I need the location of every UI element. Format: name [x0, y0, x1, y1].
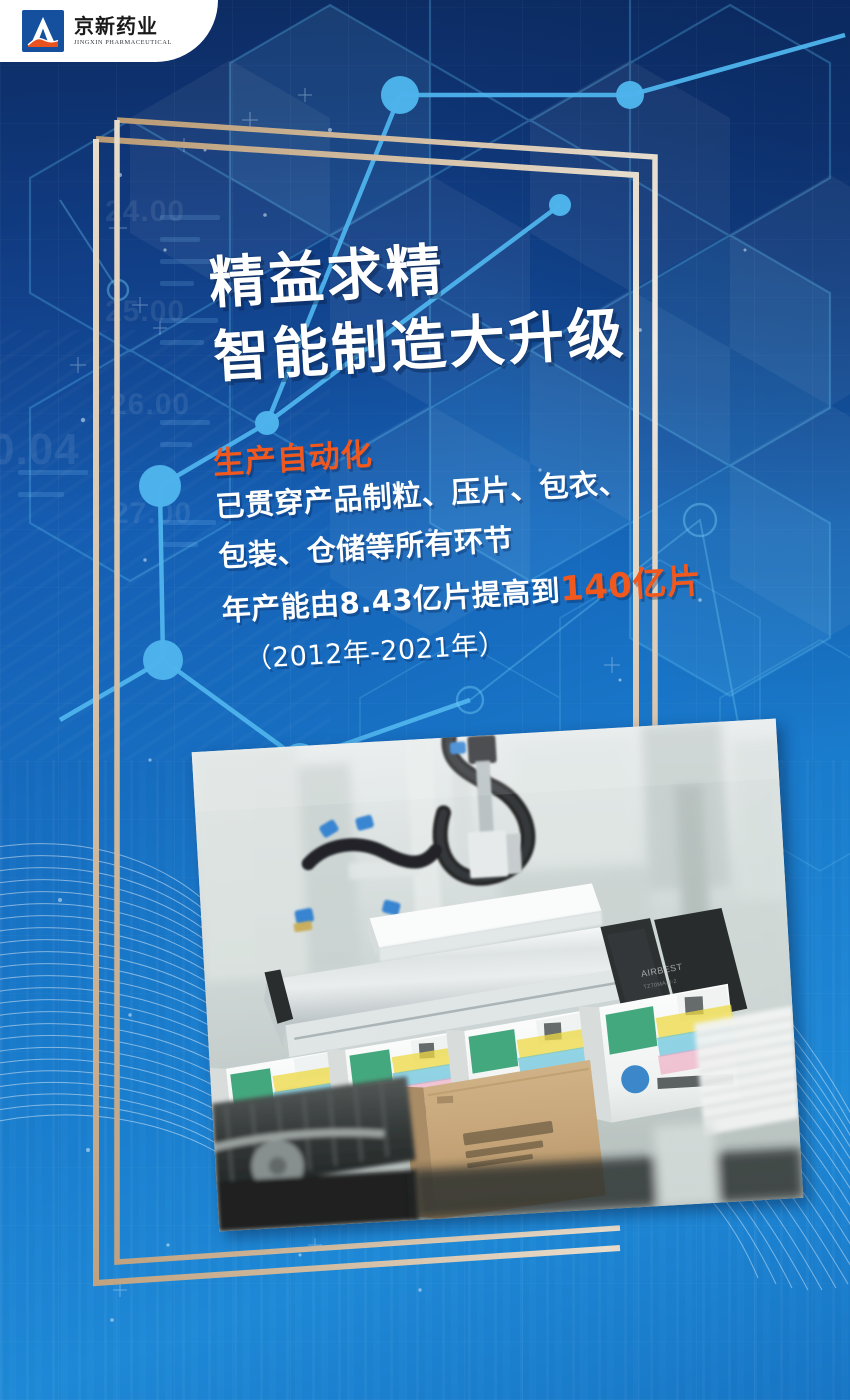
body-text-block: 生产自动化 已贯穿产品制粒、压片、包衣、 包装、仓储等所有环节 年产能由8.43… — [212, 419, 706, 696]
body-line-2: 包装、仓储等所有环节 — [218, 514, 699, 571]
capacity-highlight: 140亿片 — [559, 561, 703, 609]
header-bar: 京新药业 JINGXIN PHARMACEUTICAL — [0, 0, 218, 62]
poster-root: 24.00 25.00 26.00 27.00 0.04 — [0, 0, 850, 1400]
body-line-3: 年产能由8.43亿片提高到140亿片 — [221, 564, 703, 626]
brand-logo[interactable]: 京新药业 JINGXIN PHARMACEUTICAL — [0, 10, 172, 52]
main-title: 精益求精 智能制造大升级 — [207, 224, 628, 397]
brand-name-cn: 京新药业 — [74, 16, 172, 37]
photo-illustration: AIRBEST TZ70MA-8-2 — [192, 719, 804, 1232]
jingxin-mountain-logo-icon — [22, 10, 64, 52]
body-line-4: （2012年-2021年） — [224, 619, 705, 674]
body-line-3-prefix: 年产能由8.43亿片提高到 — [221, 574, 561, 628]
production-line-photo: AIRBEST TZ70MA-8-2 — [192, 719, 804, 1232]
brand-text: 京新药业 JINGXIN PHARMACEUTICAL — [74, 16, 172, 46]
brand-name-en: JINGXIN PHARMACEUTICAL — [74, 39, 172, 46]
